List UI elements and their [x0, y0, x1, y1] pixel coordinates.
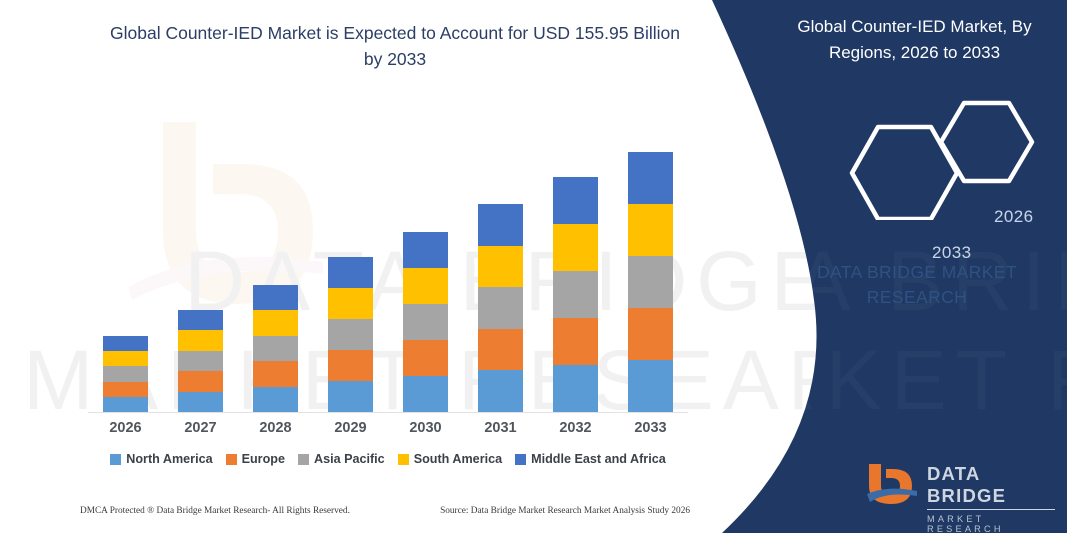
bar-segment: [553, 224, 598, 271]
bar-segment: [178, 351, 223, 371]
legend-item[interactable]: North America: [110, 452, 212, 466]
bar-segment: [253, 387, 298, 412]
legend-label: Europe: [242, 452, 285, 466]
x-axis-labels: 20262027202820292030203120322033: [88, 420, 688, 436]
bar-column: [392, 122, 460, 412]
bar-segment: [478, 287, 523, 329]
bar-column: [317, 122, 385, 412]
stacked-bar: [478, 204, 523, 412]
legend-item[interactable]: South America: [398, 452, 502, 466]
bar-column: [92, 122, 160, 412]
logo-main-text: DATA BRIDGE: [927, 463, 1055, 510]
x-axis-label: 2033: [617, 420, 685, 436]
stacked-bar: [553, 177, 598, 412]
stacked-bar: [403, 232, 448, 412]
chart-plot-area: [88, 120, 688, 412]
footer-copyright: DMCA Protected ® Data Bridge Market Rese…: [80, 506, 350, 516]
bar-segment: [478, 370, 523, 412]
x-axis-label: 2030: [392, 420, 460, 436]
stacked-bar: [328, 257, 373, 412]
stacked-bar: [178, 310, 223, 412]
bar-column: [167, 122, 235, 412]
legend-swatch: [515, 454, 526, 465]
bar-segment: [328, 381, 373, 412]
bar-segment: [553, 365, 598, 412]
bar-segment: [328, 288, 373, 319]
data-bridge-logo-icon: [865, 460, 923, 508]
stacked-bar: [253, 285, 298, 412]
bar-segment: [103, 382, 148, 397]
bar-segment: [103, 351, 148, 366]
bar-segment: [253, 285, 298, 310]
legend-swatch: [398, 454, 409, 465]
bar-segment: [403, 232, 448, 268]
legend-swatch: [110, 454, 121, 465]
x-axis-label: 2026: [92, 420, 160, 436]
bar-segment: [103, 336, 148, 351]
hexagon-badges: 2026 2033: [792, 85, 1067, 220]
bar-segment: [553, 177, 598, 224]
bar-segment: [478, 246, 523, 288]
bar-segment: [253, 336, 298, 361]
company-logo: DATA BRIDGE MARKET RESEARCH: [865, 460, 1055, 508]
bar-segment: [178, 371, 223, 391]
bar-segment: [328, 350, 373, 381]
panel-watermark-line-2: MARKET RESEARCH: [682, 333, 1067, 427]
bar-segment: [103, 397, 148, 412]
bar-segment: [628, 152, 673, 204]
bar-segment: [403, 268, 448, 304]
x-axis-label: 2029: [317, 420, 385, 436]
stacked-bar: [628, 152, 673, 412]
bar-segment: [478, 329, 523, 371]
bar-column: [242, 122, 310, 412]
legend-label: Middle East and Africa: [531, 452, 666, 466]
bar-series-container: [88, 122, 688, 412]
x-axis-label: 2032: [542, 420, 610, 436]
bar-segment: [328, 319, 373, 350]
bar-segment: [178, 310, 223, 330]
legend-item[interactable]: Asia Pacific: [298, 452, 385, 466]
bar-segment: [628, 360, 673, 412]
hexagon-outlines-icon: [792, 85, 1067, 220]
legend-item[interactable]: Middle East and Africa: [515, 452, 666, 466]
infographic-root: DATA BRIDGE MARKET RESEARCH Global Count…: [0, 0, 1067, 533]
x-axis-label: 2031: [467, 420, 535, 436]
bar-segment: [253, 310, 298, 335]
bar-segment: [178, 392, 223, 412]
legend-item[interactable]: Europe: [226, 452, 285, 466]
bar-segment: [553, 318, 598, 365]
bar-segment: [628, 256, 673, 308]
x-axis-label: 2028: [242, 420, 310, 436]
panel-brand-text: DATA BRIDGE MARKET RESEARCH: [777, 260, 1057, 311]
bar-segment: [628, 308, 673, 360]
bar-segment: [328, 257, 373, 288]
bar-segment: [403, 304, 448, 340]
footer-source: Source: Data Bridge Market Research Mark…: [440, 506, 690, 516]
hex-label-start: 2026: [994, 207, 1033, 227]
legend-label: North America: [126, 452, 212, 466]
bar-segment: [253, 361, 298, 386]
right-panel: DATA BRIDGE MARKET RESEARCH Global Count…: [682, 0, 1067, 533]
x-axis-line: [88, 412, 688, 413]
bar-segment: [103, 366, 148, 381]
chart-legend: North AmericaEuropeAsia PacificSouth Ame…: [88, 452, 688, 466]
bar-segment: [553, 271, 598, 318]
bar-column: [467, 122, 535, 412]
bar-segment: [178, 330, 223, 350]
bar-segment: [403, 376, 448, 412]
bar-segment: [403, 340, 448, 376]
legend-swatch: [298, 454, 309, 465]
bar-segment: [478, 204, 523, 246]
x-axis-label: 2027: [167, 420, 235, 436]
bar-column: [542, 122, 610, 412]
legend-label: Asia Pacific: [314, 452, 385, 466]
legend-label: South America: [414, 452, 502, 466]
logo-sub-text: MARKET RESEARCH: [927, 514, 1055, 533]
footer: DMCA Protected ® Data Bridge Market Rese…: [80, 506, 690, 516]
bar-column: [617, 122, 685, 412]
bar-segment: [628, 204, 673, 256]
stacked-bar: [103, 336, 148, 412]
panel-title: Global Counter-IED Market, By Regions, 2…: [772, 14, 1057, 67]
chart-title: Global Counter-IED Market is Expected to…: [110, 20, 680, 73]
legend-swatch: [226, 454, 237, 465]
